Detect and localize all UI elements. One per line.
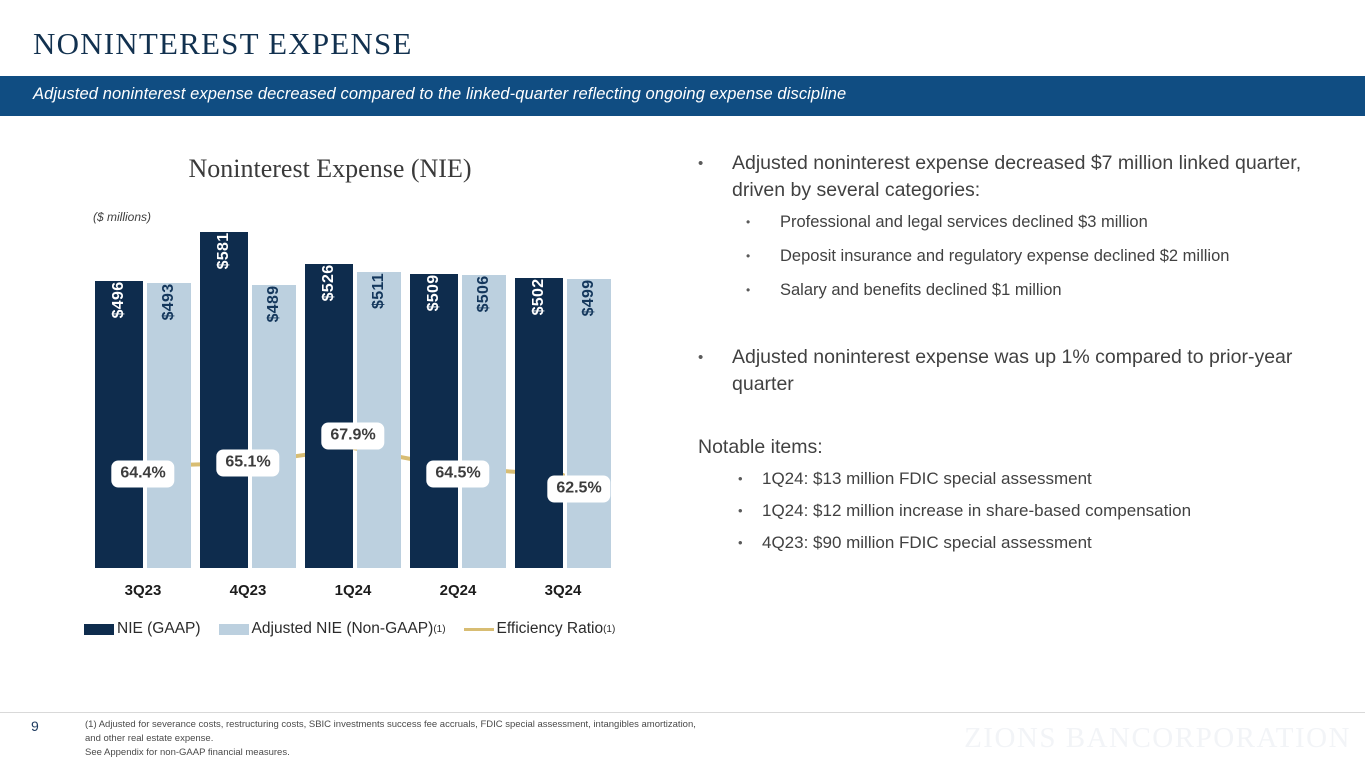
- bar-adjusted-nie: $489: [252, 285, 296, 568]
- bullet-marker: •: [746, 206, 780, 238]
- x-axis-category-label: 3Q24: [545, 582, 582, 599]
- legend-label-efficiency-ratio: Efficiency Ratio: [497, 620, 604, 638]
- chart-plot-area: $496$4933Q23$581$4894Q23$526$5111Q24$509…: [0, 116, 675, 586]
- bullet-text: Adjusted noninterest expense was up 1% c…: [732, 344, 1338, 398]
- bullet-marker: •: [738, 527, 762, 559]
- footnote-line: See Appendix for non-GAAP financial meas…: [85, 746, 885, 760]
- legend-label-adjusted-nie: Adjusted NIE (Non-GAAP): [252, 620, 434, 638]
- bar-adjusted-nie: $499: [567, 279, 611, 568]
- spacer: [698, 308, 1338, 344]
- bullet-text: Adjusted noninterest expense decreased $…: [732, 150, 1338, 204]
- notable-items-list: • 1Q24: $13 million FDIC special assessm…: [738, 463, 1338, 559]
- legend-swatch-efficiency-ratio: [464, 628, 494, 631]
- bar-value-label: $509: [425, 274, 443, 311]
- bullet-marker: •: [738, 463, 762, 495]
- efficiency-ratio-label: 62.5%: [547, 476, 610, 503]
- sub-bullet-text: Professional and legal services declined…: [780, 206, 1148, 238]
- legend-item-adjusted-nie[interactable]: Adjusted NIE (Non-GAAP)(1): [219, 620, 446, 638]
- sub-bullet-item: • Professional and legal services declin…: [746, 206, 1338, 238]
- sub-bullet-text: Salary and benefits declined $1 million: [780, 274, 1062, 306]
- bar-nie-gaap: $509: [410, 274, 458, 568]
- efficiency-ratio-label: 64.4%: [111, 461, 174, 488]
- notable-item-text: 1Q24: $13 million FDIC special assessmen…: [762, 463, 1092, 495]
- bullet-marker: •: [746, 274, 780, 306]
- legend-swatch-adjusted-nie: [219, 624, 249, 635]
- bullet-item: • Adjusted noninterest expense decreased…: [698, 150, 1338, 204]
- notable-item: • 1Q24: $13 million FDIC special assessm…: [738, 463, 1338, 495]
- sub-bullet-text: Deposit insurance and regulatory expense…: [780, 240, 1229, 272]
- sub-bullet-item: • Deposit insurance and regulatory expen…: [746, 240, 1338, 272]
- bar-adjusted-nie: $506: [462, 275, 506, 568]
- x-axis-category-label: 1Q24: [335, 582, 372, 599]
- bullet-marker: •: [746, 240, 780, 272]
- efficiency-ratio-label: 64.5%: [426, 461, 489, 488]
- bullet-item: • Adjusted noninterest expense was up 1%…: [698, 344, 1338, 398]
- footnote-line: (1) Adjusted for severance costs, restru…: [85, 718, 885, 732]
- content-panel: • Adjusted noninterest expense decreased…: [698, 150, 1338, 559]
- legend-item-efficiency-ratio[interactable]: Efficiency Ratio(1): [464, 620, 616, 638]
- footnote: (1) Adjusted for severance costs, restru…: [85, 718, 885, 760]
- bar-adjusted-nie: $493: [147, 283, 191, 568]
- legend-item-nie-gaap[interactable]: NIE (GAAP): [84, 620, 201, 638]
- bar-nie-gaap: $581: [200, 232, 248, 568]
- chart-panel: Noninterest Expense (NIE) ($ millions) $…: [0, 116, 675, 676]
- x-axis-category-label: 3Q23: [125, 582, 162, 599]
- efficiency-ratio-label: 67.9%: [321, 423, 384, 450]
- notable-items-heading: Notable items:: [698, 436, 1338, 459]
- bar-value-label: $502: [530, 278, 548, 315]
- page-number: 9: [31, 718, 39, 734]
- legend-footnote-marker-efficiency-ratio: (1): [603, 624, 615, 635]
- bar-value-label: $499: [580, 280, 598, 317]
- bar-value-label: $489: [265, 286, 283, 323]
- bar-nie-gaap: $502: [515, 278, 563, 568]
- notable-item-text: 1Q24: $12 million increase in share-base…: [762, 495, 1191, 527]
- footnote-line: and other real estate expense.: [85, 732, 885, 746]
- efficiency-ratio-label: 65.1%: [216, 450, 279, 477]
- bar-nie-gaap: $526: [305, 264, 353, 568]
- footer-divider: [0, 712, 1365, 713]
- bar-value-label: $511: [370, 274, 388, 310]
- legend-label-nie-gaap: NIE (GAAP): [117, 620, 201, 638]
- company-watermark: ZIONS BANCORPORATION: [964, 722, 1351, 755]
- spacer: [698, 400, 1338, 436]
- bullet-marker: •: [738, 495, 762, 527]
- notable-item: • 4Q23: $90 million FDIC special assessm…: [738, 527, 1338, 559]
- chart-legend: NIE (GAAP) Adjusted NIE (Non-GAAP)(1) Ef…: [84, 620, 633, 638]
- subtitle-text: Adjusted noninterest expense decreased c…: [33, 85, 846, 104]
- page-title: NONINTEREST EXPENSE: [33, 26, 413, 62]
- bar-nie-gaap: $496: [95, 281, 143, 568]
- legend-footnote-marker-adjusted-nie: (1): [433, 624, 445, 635]
- notable-item: • 1Q24: $12 million increase in share-ba…: [738, 495, 1338, 527]
- x-axis-category-label: 2Q24: [440, 582, 477, 599]
- sub-bullet-list: • Professional and legal services declin…: [746, 206, 1338, 306]
- legend-swatch-nie-gaap: [84, 624, 114, 635]
- x-axis-category-label: 4Q23: [230, 582, 267, 599]
- bullet-marker: •: [698, 150, 732, 204]
- bar-value-label: $526: [320, 264, 338, 301]
- notable-item-text: 4Q23: $90 million FDIC special assessmen…: [762, 527, 1092, 559]
- bar-value-label: $493: [160, 284, 178, 321]
- bar-adjusted-nie: $511: [357, 272, 401, 568]
- bar-value-label: $506: [475, 276, 493, 313]
- bullet-marker: •: [698, 344, 732, 398]
- bar-value-label: $581: [215, 233, 233, 270]
- bar-value-label: $496: [110, 282, 128, 319]
- sub-bullet-item: • Salary and benefits declined $1 millio…: [746, 274, 1338, 306]
